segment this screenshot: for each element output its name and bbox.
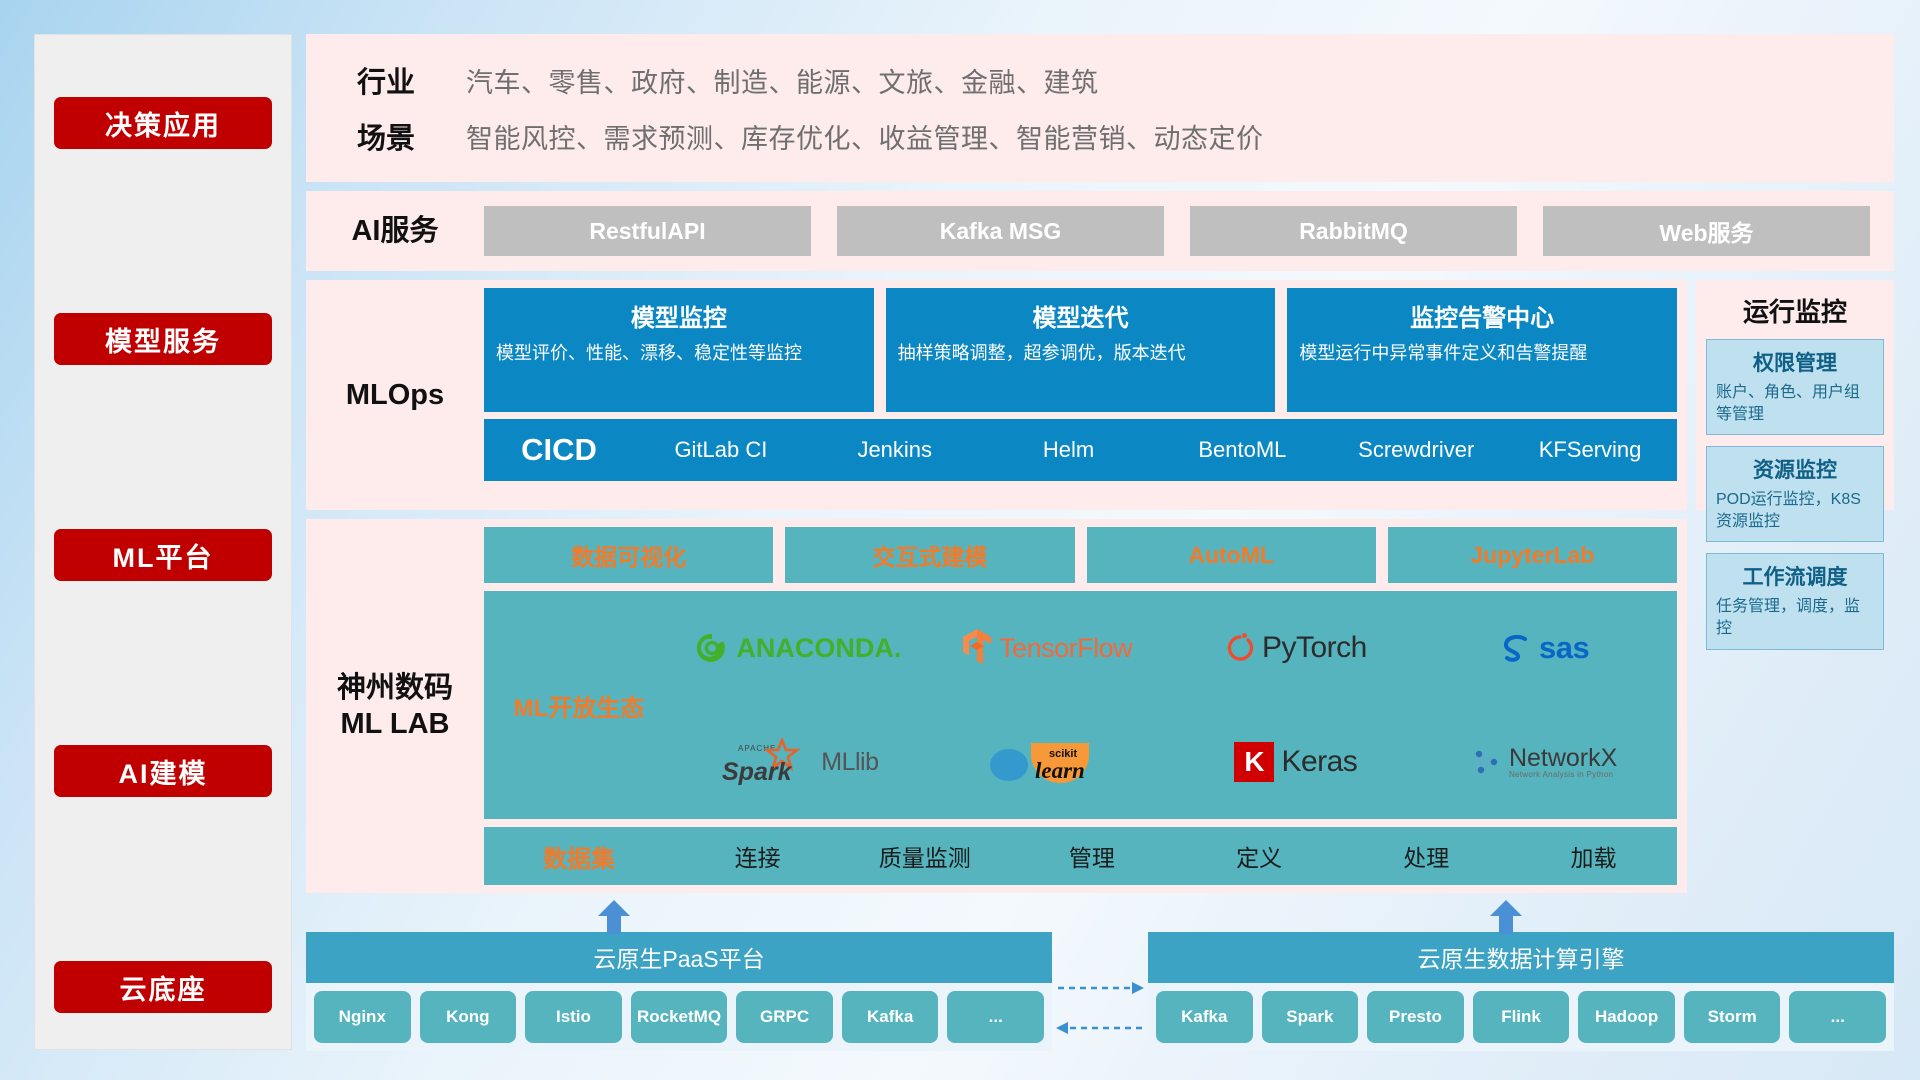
- dataset-row: 数据集 连接 质量监测 管理 定义 处理 加载: [484, 827, 1677, 885]
- architecture-diagram: 决策应用 模型服务 ML平台 AI建模 云底座 行业 汽车、零售、政府、制造、能…: [0, 0, 1920, 1080]
- ml-lab-label-line1: 神州数码: [337, 670, 453, 706]
- mlops-card-model-monitoring[interactable]: 模型监控 模型评价、性能、漂移、稳定性等监控: [484, 288, 874, 412]
- cicd-item-bentoml[interactable]: BentoML: [1155, 438, 1329, 461]
- mlops-card-title: 模型迭代: [898, 298, 1264, 333]
- pytorch-logo: PyTorch: [1225, 631, 1367, 665]
- cicd-item-gitlab-ci[interactable]: GitLab CI: [634, 438, 808, 461]
- decision-row-scenario: 场景 智能风控、需求预测、库存优化、收益管理、智能营销、动态定价: [306, 115, 1874, 157]
- ml-open-ecosystem-label: ML开放生态: [484, 688, 674, 723]
- decision-key-scenario: 场景: [306, 115, 466, 157]
- dataset-label: 数据集: [484, 839, 674, 874]
- ml-lab-label-line2: ML LAB: [337, 706, 453, 742]
- networkx-logo: NetworkX Network Analysis in Python: [1472, 746, 1617, 779]
- data-engine-up-arrow-icon: [1488, 900, 1524, 934]
- mlops-card-desc: 抽样策略调整，超参调优，版本迭代: [898, 341, 1264, 365]
- engine-tag-hadoop[interactable]: Hadoop: [1578, 991, 1675, 1043]
- pytorch-icon: [1225, 631, 1255, 665]
- svg-text:Spark: Spark: [722, 758, 793, 786]
- dataset-item-loading[interactable]: 加载: [1510, 839, 1677, 873]
- ai-service-chip-web-service[interactable]: Web服务: [1543, 206, 1870, 256]
- tensorflow-wordmark: TensorFlow: [999, 633, 1132, 664]
- cicd-item-helm[interactable]: Helm: [982, 438, 1156, 461]
- mlops-card-alert-center[interactable]: 监控告警中心 模型运行中异常事件定义和告警提醒: [1287, 288, 1677, 412]
- rail-item-ai-modeling[interactable]: AI建模: [54, 745, 272, 797]
- mlops-card-desc: 模型评价、性能、漂移、稳定性等监控: [496, 341, 862, 365]
- scikit-learn-icon: scikit learn: [987, 735, 1107, 789]
- cloud-paas-title: 云原生PaaS平台: [306, 932, 1052, 983]
- monitor-panel-title: 运行监控: [1743, 292, 1847, 329]
- ml-lab-label: 神州数码 ML LAB: [306, 527, 484, 885]
- mlops-content: 模型监控 模型评价、性能、漂移、稳定性等监控 模型迭代 抽样策略调整，超参调优，…: [484, 288, 1687, 502]
- engine-tag-more[interactable]: ...: [1789, 991, 1886, 1043]
- mlops-label: MLOps: [306, 288, 484, 502]
- dataset-item-connect[interactable]: 连接: [674, 839, 841, 873]
- paas-tag-rocketmq[interactable]: RocketMQ: [631, 991, 728, 1043]
- row-ai-modeling: 神州数码 ML LAB 数据可视化 交互式建模 AutoML JupyterLa…: [306, 519, 1894, 893]
- paas-tag-nginx[interactable]: Nginx: [314, 991, 411, 1043]
- row-ml-platform: MLOps 模型监控 模型评价、性能、漂移、稳定性等监控 模型迭代 抽样策略调整…: [306, 280, 1894, 510]
- engine-tag-kafka[interactable]: Kafka: [1156, 991, 1253, 1043]
- networkx-wordmark: NetworkX: [1509, 746, 1617, 771]
- dataset-item-processing[interactable]: 处理: [1343, 839, 1510, 873]
- monitor-card-title: 权限管理: [1716, 347, 1874, 377]
- tool-chip-interactive-modeling[interactable]: 交互式建模: [785, 527, 1074, 583]
- monitor-panel-spacer: [1696, 519, 1894, 893]
- rail-item-cloud-base[interactable]: 云底座: [54, 961, 272, 1013]
- ai-service-chip-restfulapi[interactable]: RestfulAPI: [484, 206, 811, 256]
- ai-service-chips: RestfulAPI Kafka MSG RabbitMQ Web服务: [484, 206, 1894, 256]
- anaconda-icon: [695, 631, 729, 665]
- band-ml-lab: 神州数码 ML LAB 数据可视化 交互式建模 AutoML JupyterLa…: [306, 519, 1687, 893]
- paas-tag-kafka[interactable]: Kafka: [842, 991, 939, 1043]
- cloud-paas-tags: Nginx Kong Istio RocketMQ GRPC Kafka ...: [306, 983, 1052, 1051]
- main-column: 行业 汽车、零售、政府、制造、能源、文旅、金融、建筑 场景 智能风控、需求预测、…: [306, 34, 1894, 1050]
- pytorch-wordmark: PyTorch: [1262, 631, 1367, 665]
- band-mlops: MLOps 模型监控 模型评价、性能、漂移、稳定性等监控 模型迭代 抽样策略调整…: [306, 280, 1687, 510]
- engine-tag-flink[interactable]: Flink: [1473, 991, 1570, 1043]
- paas-tag-more[interactable]: ...: [947, 991, 1044, 1043]
- scikit-learn-logo: scikit learn: [987, 735, 1107, 789]
- tool-chip-automl[interactable]: AutoML: [1087, 527, 1376, 583]
- mlops-card-model-iteration[interactable]: 模型迭代 抽样策略调整，超参调优，版本迭代: [886, 288, 1276, 412]
- monitor-card-title: 资源监控: [1716, 454, 1874, 484]
- ai-service-label: AI服务: [306, 213, 484, 249]
- engine-tag-presto[interactable]: Presto: [1367, 991, 1464, 1043]
- spark-mllib-logo: APACHE Spark MLlib: [718, 738, 878, 786]
- paas-tag-kong[interactable]: Kong: [420, 991, 517, 1043]
- monitor-card-permission[interactable]: 权限管理 账户、角色、用户组等管理: [1706, 339, 1884, 435]
- mlops-card-title: 监控告警中心: [1299, 298, 1665, 333]
- layer-rail: 决策应用 模型服务 ML平台 AI建模 云底座: [34, 34, 292, 1050]
- tensorflow-icon: [962, 628, 992, 668]
- paas-tag-grpc[interactable]: GRPC: [736, 991, 833, 1043]
- ml-lab-content: 数据可视化 交互式建模 AutoML JupyterLab ML开放生态: [484, 527, 1687, 885]
- sas-icon: [1500, 632, 1532, 664]
- dataset-item-quality-monitoring[interactable]: 质量监测: [841, 839, 1008, 873]
- band-ai-service: AI服务 RestfulAPI Kafka MSG RabbitMQ Web服务: [306, 191, 1894, 271]
- cicd-bar: CICD GitLab CI Jenkins Helm BentoML Scre…: [484, 419, 1677, 481]
- monitor-card-desc: 账户、角色、用户组等管理: [1716, 382, 1874, 425]
- bidirectional-dashed-arrows-icon: [1052, 970, 1148, 1070]
- rail-item-decision[interactable]: 决策应用: [54, 97, 272, 149]
- anaconda-logo: ANACONDA.: [695, 631, 901, 665]
- cloud-data-engine-tags: Kafka Spark Presto Flink Hadoop Storm ..…: [1148, 983, 1894, 1051]
- networkx-tagline: Network Analysis in Python: [1509, 771, 1617, 779]
- ml-lab-tool-row: 数据可视化 交互式建模 AutoML JupyterLab: [484, 527, 1677, 583]
- sas-logo: sas: [1500, 630, 1589, 666]
- cloud-data-engine-column: 云原生数据计算引擎 Kafka Spark Presto Flink Hadoo…: [1148, 932, 1894, 1051]
- engine-tag-spark[interactable]: Spark: [1262, 991, 1359, 1043]
- ml-open-ecosystem-row: ML开放生态 ANACONDA.: [484, 591, 1677, 819]
- cicd-item-screwdriver[interactable]: Screwdriver: [1329, 438, 1503, 461]
- decision-rows: 行业 汽车、零售、政府、制造、能源、文旅、金融、建筑 场景 智能风控、需求预测、…: [306, 42, 1894, 174]
- keras-icon: K: [1234, 742, 1274, 782]
- dataset-item-definition[interactable]: 定义: [1176, 839, 1343, 873]
- cloud-data-engine-title: 云原生数据计算引擎: [1148, 932, 1894, 983]
- paas-tag-istio[interactable]: Istio: [525, 991, 622, 1043]
- cicd-item-jenkins[interactable]: Jenkins: [808, 438, 982, 461]
- mllib-wordmark: MLlib: [821, 748, 878, 777]
- ai-service-chip-rabbitmq[interactable]: RabbitMQ: [1190, 206, 1517, 256]
- spark-icon: APACHE Spark: [718, 738, 814, 786]
- keras-logo: K Keras: [1234, 742, 1357, 782]
- ml-open-ecosystem-logos: ANACONDA. TensorFlow: [674, 591, 1677, 819]
- rail-item-model-service[interactable]: 模型服务: [54, 313, 272, 365]
- networkx-icon: [1472, 747, 1502, 777]
- mlops-cards: 模型监控 模型评价、性能、漂移、稳定性等监控 模型迭代 抽样策略调整，超参调优，…: [484, 288, 1677, 412]
- sas-wordmark: sas: [1539, 630, 1589, 666]
- band-decision-applications: 行业 汽车、零售、政府、制造、能源、文旅、金融、建筑 场景 智能风控、需求预测、…: [306, 34, 1894, 182]
- cloud-foundation-zone: 云原生PaaS平台 Nginx Kong Istio RocketMQ GRPC…: [306, 902, 1894, 1050]
- mlops-inner: MLOps 模型监控 模型评价、性能、漂移、稳定性等监控 模型迭代 抽样策略调整…: [306, 288, 1687, 502]
- mlops-card-desc: 模型运行中异常事件定义和告警提醒: [1299, 341, 1665, 365]
- rail-item-ml-platform[interactable]: ML平台: [54, 529, 272, 581]
- decision-value-scenario: 智能风控、需求预测、库存优化、收益管理、智能营销、动态定价: [466, 117, 1264, 156]
- cloud-paas-column: 云原生PaaS平台 Nginx Kong Istio RocketMQ GRPC…: [306, 932, 1052, 1051]
- tool-chip-jupyterlab[interactable]: JupyterLab: [1388, 527, 1677, 583]
- paas-up-arrow-icon: [596, 900, 632, 934]
- decision-key-industry: 行业: [306, 59, 466, 101]
- anaconda-wordmark: ANACONDA.: [736, 633, 901, 664]
- ai-service-chip-kafka-msg[interactable]: Kafka MSG: [837, 206, 1164, 256]
- keras-wordmark: Keras: [1281, 745, 1357, 779]
- engine-tag-storm[interactable]: Storm: [1684, 991, 1781, 1043]
- decision-row-industry: 行业 汽车、零售、政府、制造、能源、文旅、金融、建筑: [306, 59, 1874, 101]
- cicd-title: CICD: [484, 432, 634, 468]
- decision-value-industry: 汽车、零售、政府、制造、能源、文旅、金融、建筑: [466, 61, 1099, 100]
- dataset-item-management[interactable]: 管理: [1008, 839, 1175, 873]
- tool-chip-data-visualization[interactable]: 数据可视化: [484, 527, 773, 583]
- keras-mark: K: [1244, 746, 1264, 778]
- cicd-item-kfserving[interactable]: KFServing: [1503, 438, 1677, 461]
- svg-text:learn: learn: [1035, 758, 1085, 783]
- mlops-card-title: 模型监控: [496, 298, 862, 333]
- panel-runtime-monitoring: 运行监控 权限管理 账户、角色、用户组等管理 资源监控 POD运行监控，K8S资…: [1696, 280, 1894, 510]
- tensorflow-logo: TensorFlow: [962, 628, 1132, 668]
